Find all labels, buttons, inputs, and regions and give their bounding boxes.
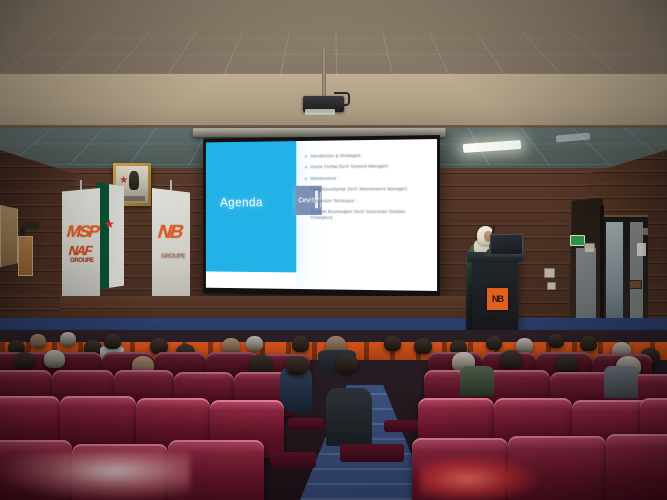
wall-fixture-small	[640, 228, 648, 235]
bullet-text: Imane Ferhat (NAF General Manager)	[310, 164, 388, 171]
company-flag-left-mark: MSP	[65, 222, 101, 242]
audience-head	[44, 350, 65, 368]
wall-socket[interactable]	[547, 282, 556, 290]
projector-mount-pole	[322, 48, 326, 100]
lens-flare-left	[0, 452, 190, 500]
slide-bullet: ▸ Prevention Technique :	[305, 198, 429, 204]
company-flag-left-sub: NAF	[67, 243, 93, 258]
lectern-logo-text: NB	[492, 294, 503, 304]
bullet-dot-icon: ▸	[305, 165, 307, 171]
seat-armrest	[340, 444, 404, 462]
slide-bullet: ▸ Imane Ferhat (NAF General Manager)	[305, 163, 429, 170]
wall-switch-plate[interactable]	[544, 268, 555, 278]
audience-head	[414, 338, 432, 354]
audience-head	[60, 332, 76, 346]
slide-bullet: ▸ Farid Bouaziymar (NAF Maintenance Mana…	[305, 186, 429, 193]
audience-head	[336, 354, 358, 373]
audience-head	[486, 336, 502, 350]
presentation-slide: Agenda Cevital ▸ Introduction & Strategi…	[206, 139, 437, 291]
portrait-face	[129, 171, 139, 190]
wall-poster-left-secondary	[18, 236, 33, 276]
bullet-dot-icon: ▸	[305, 187, 307, 193]
seat-armrest	[288, 418, 324, 430]
slide-bullet-list: ▸ Introduction & Strategies : ▸ Imane Fe…	[296, 139, 437, 291]
audience-head	[516, 338, 533, 353]
seat-armrest	[384, 420, 418, 432]
bullet-text: Maintenance :	[310, 176, 339, 182]
bullet-text: Farid Bouaziymar (NAF Maintenance Manage…	[310, 186, 407, 193]
company-flag-right	[152, 188, 190, 302]
lectern-brand-logo: NB	[487, 288, 508, 310]
audience-torso	[460, 366, 494, 396]
slide-bullet: ▸ Introduction & Strategies :	[305, 152, 429, 160]
wall-poster-left	[0, 205, 18, 267]
projection-screen-border: Agenda Cevital ▸ Introduction & Strategi…	[203, 135, 440, 297]
bullet-dot-icon: ▸	[305, 176, 307, 182]
laptop-keyboard-base	[484, 254, 524, 259]
star-icon: ★	[104, 218, 115, 230]
audience-head	[250, 354, 272, 373]
audience-head	[580, 336, 597, 351]
wall-switch-plate-upper[interactable]	[584, 243, 595, 253]
projection-screen: Agenda Cevital ▸ Introduction & Strategi…	[203, 135, 440, 297]
slide-heading: Agenda	[220, 196, 263, 210]
audience-head	[286, 356, 308, 375]
portrait-star-icon: ★	[119, 176, 128, 185]
projector-lens	[305, 109, 335, 115]
audience-torso	[604, 366, 638, 398]
seat-armrest	[270, 452, 316, 468]
audience-head	[500, 350, 522, 369]
ceiling-tile-grid	[0, 31, 667, 74]
algeria-flag	[96, 182, 124, 290]
audience-head	[14, 352, 34, 369]
wall-outlet-box-right	[629, 280, 642, 289]
company-flag-left-small: GROUPE	[70, 258, 94, 264]
right-door-glass	[606, 222, 623, 330]
audience-head	[246, 336, 263, 351]
lens-flare-right	[420, 455, 540, 500]
audience-head	[548, 334, 564, 348]
bullet-dot-icon: ▸	[305, 154, 307, 160]
slide-bullet: ▸ Maintenance :	[305, 175, 429, 182]
slide-bullet: ▸ Moundir Bournedjem (NAF Geocenter Divi…	[305, 209, 429, 221]
bullet-dot-icon: ▸	[305, 209, 307, 215]
auditorium-photo: ★ Agenda Cevital ▸ Introduction & Strate…	[0, 0, 667, 500]
seat[interactable]	[606, 434, 667, 500]
audience-head	[556, 354, 578, 373]
wall-notice-sign	[637, 243, 646, 256]
audience-head	[384, 336, 401, 351]
bullet-dot-icon: ▸	[305, 198, 307, 204]
audience-head	[104, 334, 121, 349]
audience-head	[292, 336, 309, 352]
bullet-text: Moundir Bournedjem (NAF Geocenter Divisi…	[310, 209, 429, 221]
company-flag-right-sub: GROUPE	[161, 254, 185, 260]
slide-accent-panel: Agenda	[206, 141, 296, 289]
audience-torso	[326, 388, 372, 446]
audience-head	[30, 334, 46, 348]
bullet-text: Introduction & Strategies :	[310, 153, 363, 160]
exit-sign-icon	[570, 235, 585, 246]
ceiling-upper-panel	[0, 0, 667, 74]
bullet-text: Prevention Technique :	[310, 198, 357, 204]
right-door-glass-secondary	[630, 222, 643, 330]
